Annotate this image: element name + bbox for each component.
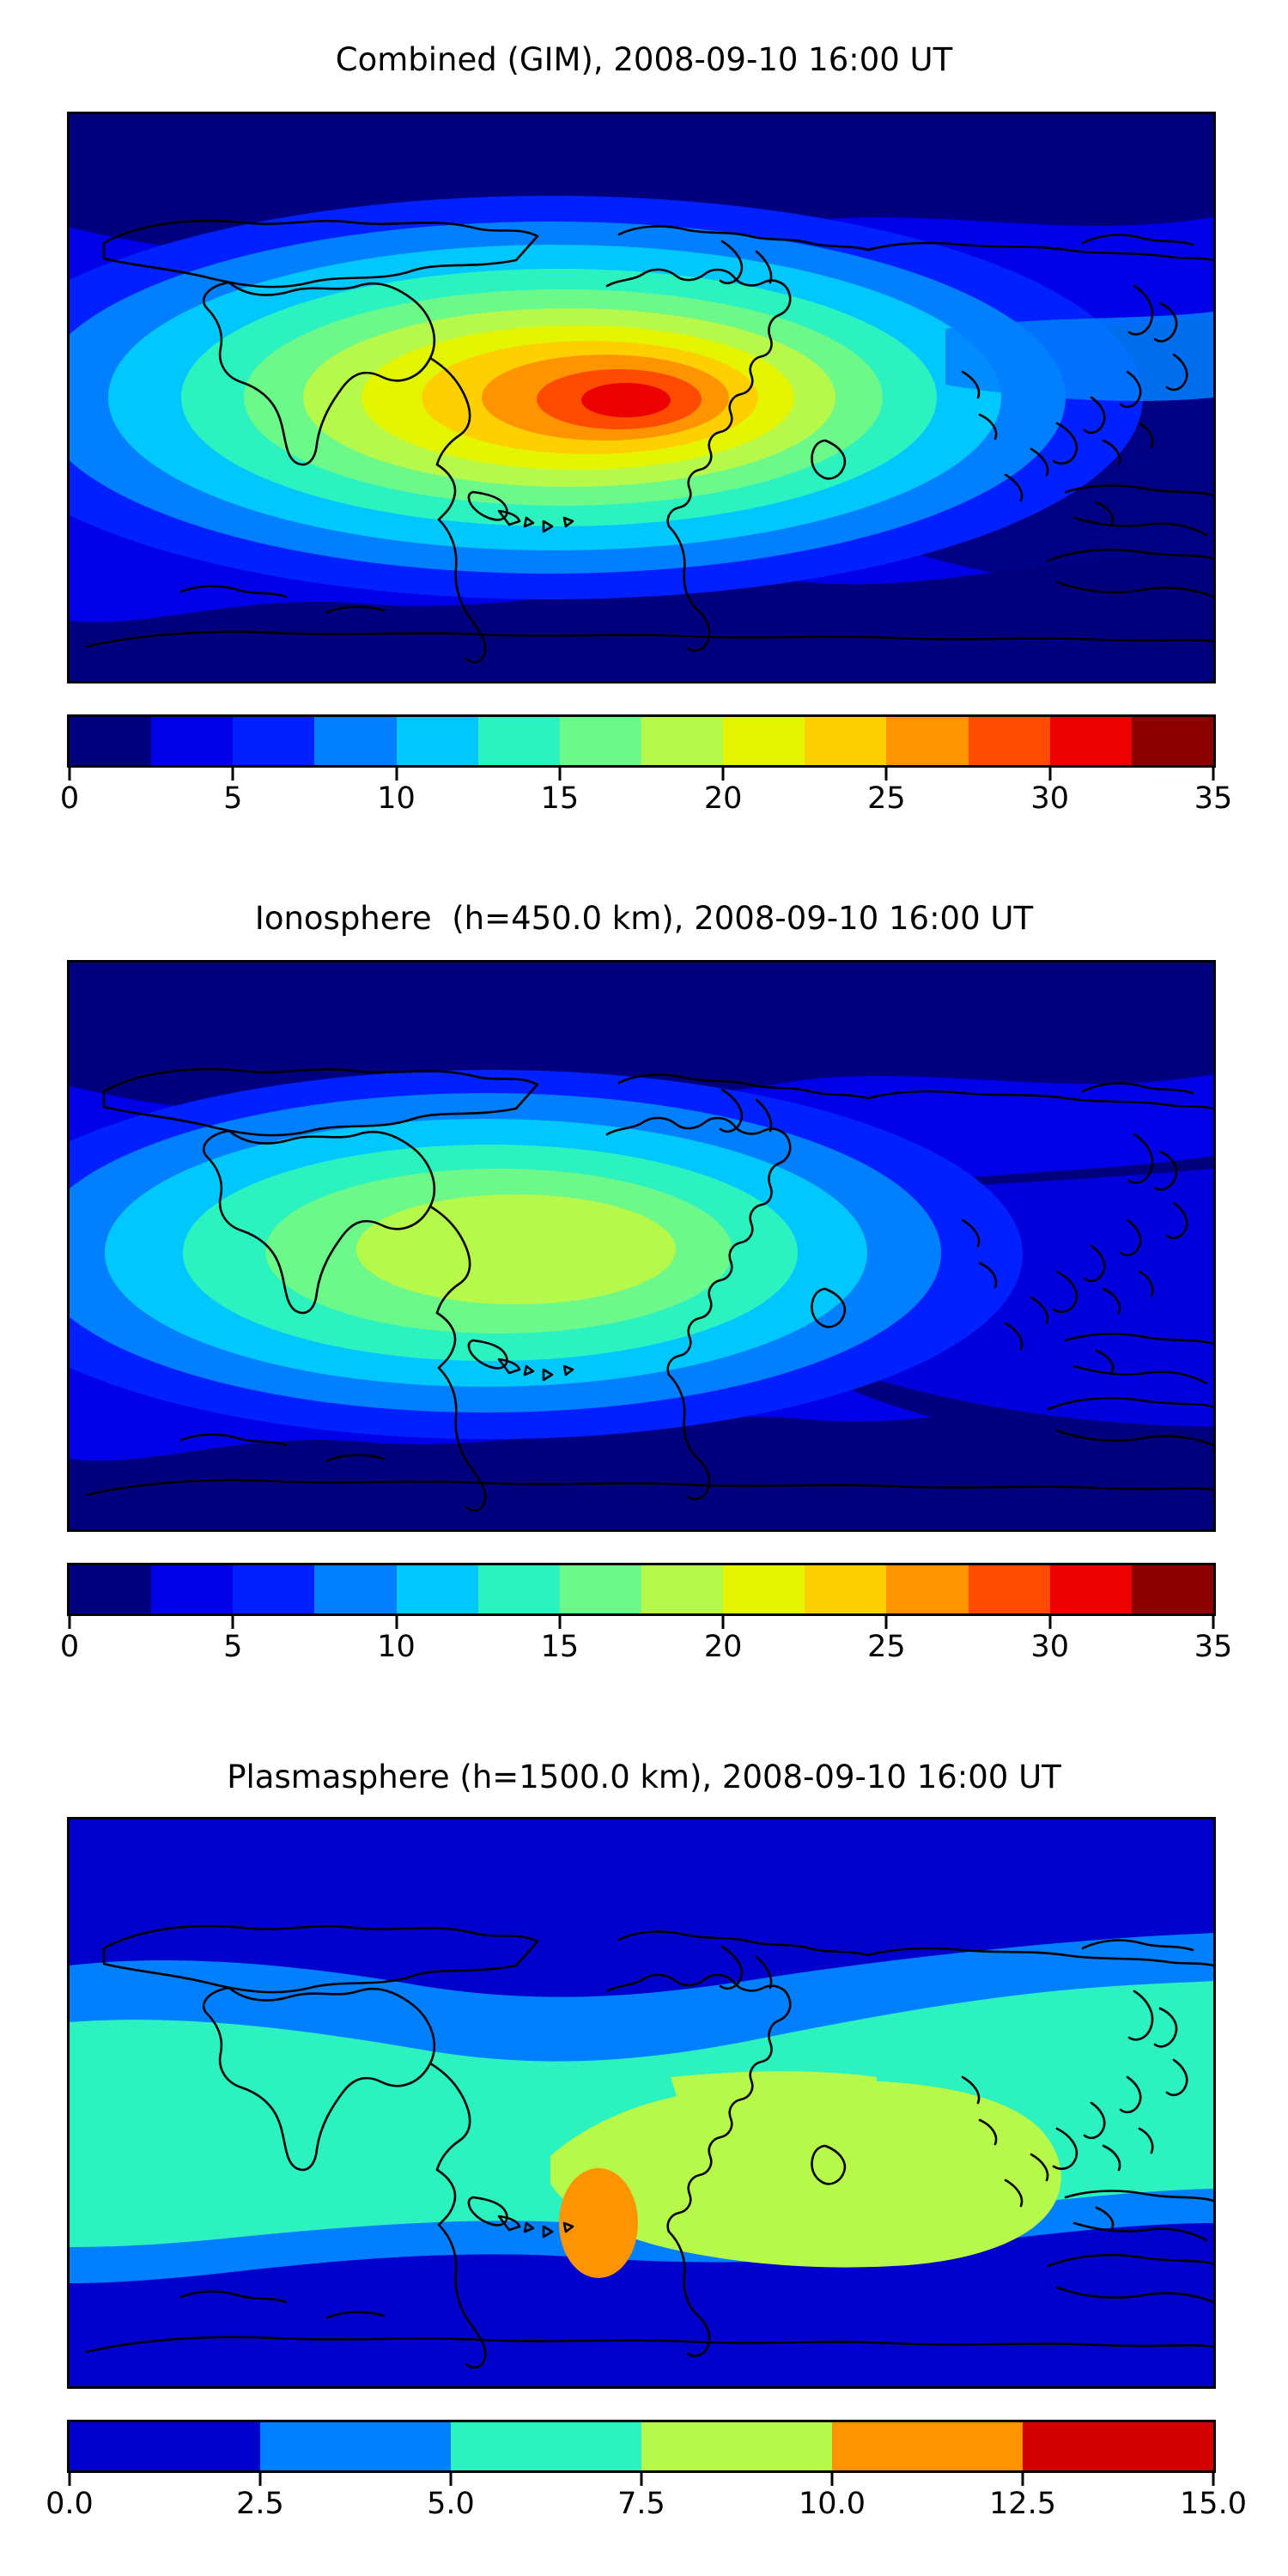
colorbar-tick [1212,768,1215,781]
colorbar-segment [641,1565,723,1613]
colorbar-segment [641,717,723,765]
colorbar-segment [560,1565,641,1613]
colorbar-combined-axis: 05101520253035 [67,768,1216,821]
colorbar-combined: 05101520253035 [67,714,1211,821]
colorbar-tick [1022,2473,1024,2486]
colorbar-segment [70,2422,260,2470]
colorbar-segment [1132,717,1213,765]
colorbar-segment [1050,1565,1132,1613]
map-ionosphere-canvas [70,963,1213,1529]
colorbar-tick [722,768,725,781]
colorbar-segment [233,1565,314,1613]
colorbar-segment [723,1565,805,1613]
colorbar-tick [395,1616,398,1629]
colorbar-segment [723,717,805,765]
colorbar-tick-label: 5.0 [427,2487,475,2521]
colorbar-tick [69,1616,71,1629]
colorbar-plasmasphere-bar [67,2420,1216,2473]
contour-fill-combined [70,114,1213,681]
colorbar-segment [233,717,314,765]
colorbar-tick-label: 2.5 [236,2487,284,2521]
panel-title-plasmasphere: Plasmasphere (h=1500.0 km), 2008-09-10 1… [0,1759,1288,1795]
contour-fill-ionosphere [70,963,1213,1529]
colorbar-segment [886,1565,968,1613]
colorbar-tick-label: 0 [60,1630,79,1664]
map-combined-canvas [70,114,1213,681]
colorbar-segment [478,717,560,765]
panel-title-combined: Combined (GIM), 2008-09-10 16:00 UT [0,41,1288,78]
colorbar-segment [560,717,641,765]
colorbar-segment [451,2422,641,2470]
colorbar-segment [832,2422,1023,2470]
colorbar-segment [641,2422,832,2470]
colorbar-tick-label: 12.5 [989,2487,1056,2521]
colorbar-segment [1050,717,1132,765]
colorbar-plasmasphere: 0.02.55.07.510.012.515.0 [67,2420,1211,2526]
tec-map-figure: Combined (GIM), 2008-09-10 16:00 UT [0,0,1288,2576]
colorbar-tick-label: 0.0 [46,2487,94,2521]
colorbar-tick-label: 20 [704,1630,743,1664]
colorbar-segment [886,717,968,765]
colorbar-tick-label: 5 [223,1630,242,1664]
colorbar-tick [885,1616,888,1629]
colorbar-segment [70,717,151,765]
map-plasmasphere-canvas [70,1820,1213,2386]
colorbar-segment [1023,2422,1213,2470]
colorbar-tick [232,1616,234,1629]
colorbar-tick [558,1616,561,1629]
colorbar-tick-label: 15.0 [1180,2487,1247,2521]
colorbar-tick [831,2473,834,2486]
colorbar-tick-label: 25 [867,781,906,816]
colorbar-tick-label: 10 [377,1630,416,1664]
colorbar-segment [1132,1565,1213,1613]
colorbar-tick [641,2473,643,2486]
colorbar-segment [478,1565,560,1613]
colorbar-tick-label: 25 [867,1630,906,1664]
colorbar-tick [1212,2473,1215,2486]
colorbar-tick [69,768,71,781]
colorbar-tick-label: 20 [704,781,743,816]
colorbar-tick-label: 35 [1194,781,1233,816]
colorbar-segment [805,1565,886,1613]
colorbar-tick-label: 30 [1030,1630,1069,1664]
colorbar-segment [314,717,396,765]
panel-combined-gim: Combined (GIM), 2008-09-10 16:00 UT [0,0,1288,867]
colorbar-tick [1048,1616,1051,1629]
map-combined-gim [67,112,1216,683]
colorbar-tick-label: 30 [1030,781,1069,816]
colorbar-tick [69,2473,71,2486]
colorbar-ionosphere: 05101520253035 [67,1563,1211,1669]
colorbar-tick-label: 35 [1194,1630,1233,1664]
colorbar-tick [722,1616,725,1629]
colorbar-plasmasphere-axis: 0.02.55.07.510.012.515.0 [67,2473,1216,2526]
colorbar-tick [1212,1616,1215,1629]
map-plasmasphere [67,1817,1216,2389]
panel-ionosphere: Ionosphere (h=450.0 km), 2008-09-10 16:0… [0,867,1288,1743]
colorbar-ionosphere-bar [67,1563,1216,1616]
colorbar-tick-label: 10.0 [799,2487,866,2521]
colorbar-tick [558,768,561,781]
colorbar-tick [232,768,234,781]
colorbar-segment [151,1565,233,1613]
colorbar-combined-bar [67,714,1216,768]
colorbar-tick-label: 0 [60,781,79,816]
colorbar-segment [969,1565,1050,1613]
colorbar-segment [969,717,1050,765]
colorbar-segment [314,1565,396,1613]
colorbar-segment [397,717,478,765]
colorbar-segment [397,1565,478,1613]
colorbar-tick [259,2473,262,2486]
colorbar-tick-label: 15 [541,1630,580,1664]
colorbar-tick [395,768,398,781]
panel-plasmasphere: Plasmasphere (h=1500.0 km), 2008-09-10 1… [0,1743,1288,2576]
colorbar-tick-label: 15 [541,781,580,816]
panel-title-ionosphere: Ionosphere (h=450.0 km), 2008-09-10 16:0… [0,900,1288,937]
colorbar-tick [885,768,888,781]
contour-fill-plasmasphere [70,1820,1213,2386]
colorbar-segment [805,717,886,765]
colorbar-tick-label: 5 [223,781,242,816]
colorbar-tick [1048,768,1051,781]
colorbar-segment [151,717,233,765]
colorbar-tick-label: 10 [377,781,416,816]
colorbar-segment [70,1565,151,1613]
colorbar-ionosphere-axis: 05101520253035 [67,1616,1216,1669]
map-ionosphere [67,960,1216,1532]
colorbar-segment [260,2422,451,2470]
colorbar-tick-label: 7.5 [617,2487,665,2521]
colorbar-tick [450,2473,453,2486]
